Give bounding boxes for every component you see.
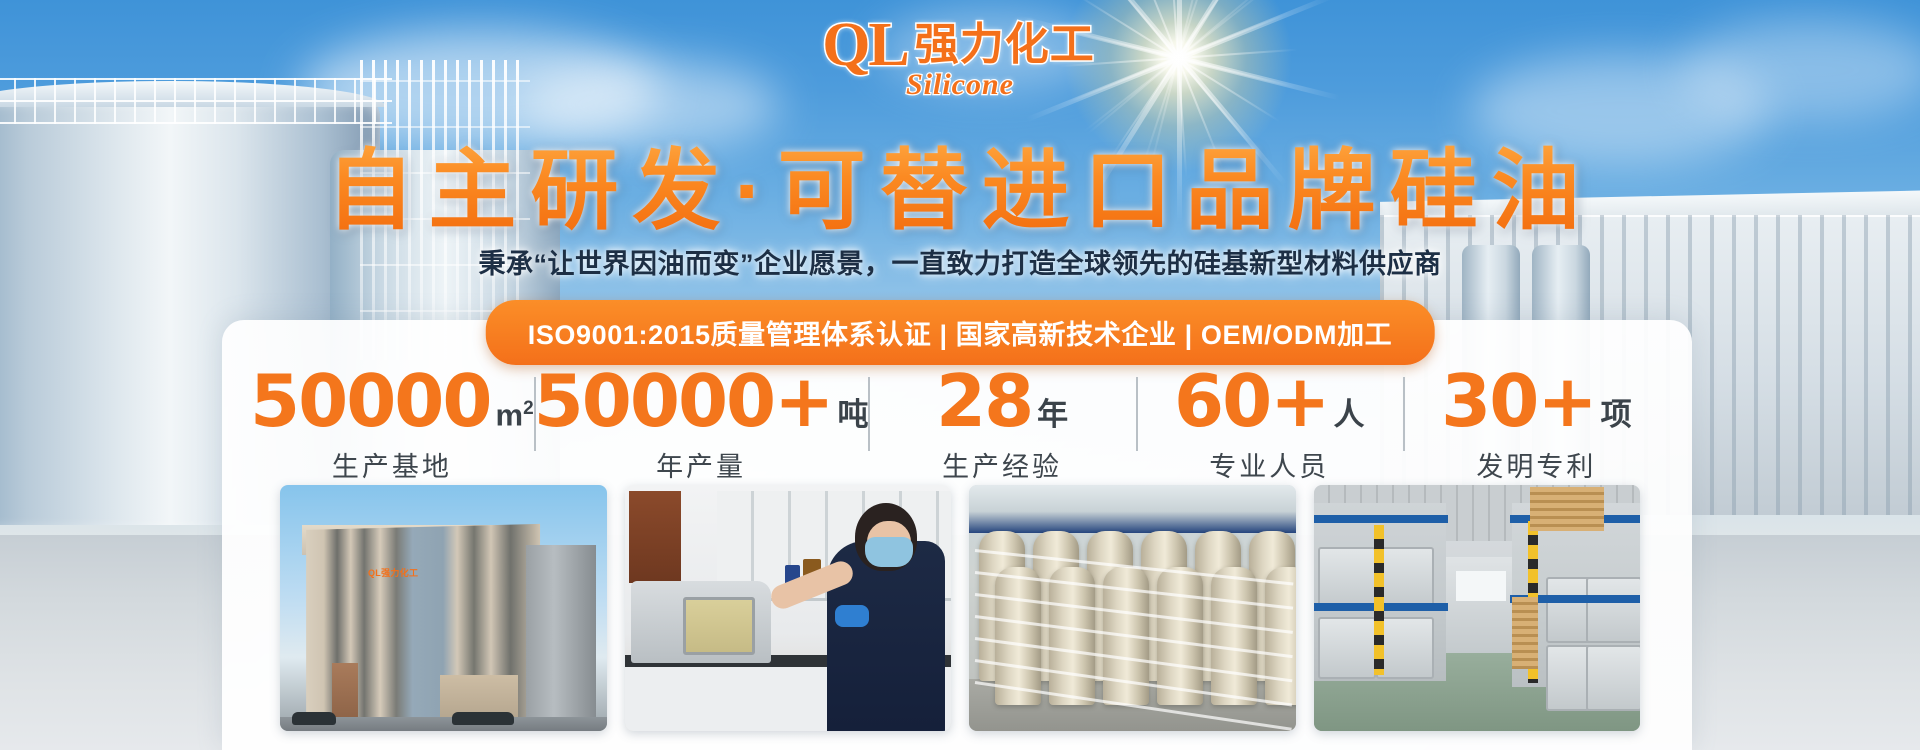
stats-row: 50000m2生产基地50000+吨年产量28年生产经验60+人专业人员30+项… (250, 365, 1670, 484)
stat-number: 30+ (1441, 365, 1596, 437)
railing-post-shape (334, 78, 336, 124)
stat-value-row: 60+人 (1136, 365, 1403, 437)
railing-post-shape (314, 78, 316, 124)
ibc-tote-shape (1376, 617, 1434, 679)
railing-post-shape (34, 78, 36, 124)
page-title: 自主研发·可替进口品牌硅油 (0, 120, 1920, 247)
wood-pallet-shape (1530, 487, 1604, 531)
stat-item-4: 60+人专业人员 (1136, 365, 1403, 484)
stat-value-row: 50000m2 (250, 365, 534, 437)
railing-post-shape (194, 78, 196, 124)
rack-beam-shape (1314, 515, 1448, 523)
building-side-wing-shape (526, 545, 596, 723)
stat-label: 发明专利 (1403, 445, 1670, 484)
company-logo[interactable]: QL 强力化工 Silicone (822, 14, 1098, 100)
railing-post-shape (74, 78, 76, 124)
stat-value-row: 30+项 (1403, 365, 1670, 437)
railing-post-shape (254, 78, 256, 124)
tank-railing-shape (0, 78, 392, 124)
logo-main-row: QL 强力化工 (822, 14, 1098, 76)
lab-door-shape (629, 491, 681, 583)
ibc-tote-shape (1586, 577, 1641, 643)
storage-silo-shape (1211, 567, 1257, 705)
storage-silo-shape (1265, 567, 1296, 705)
stat-item-1: 50000m2生产基地 (250, 365, 534, 484)
building-logo-sign: QL强力化工 (368, 566, 418, 579)
car-icon (292, 712, 336, 725)
ibc-tote-shape (1376, 547, 1434, 609)
ibc-tote-shape (1318, 617, 1376, 679)
certification-badge: ISO9001:2015质量管理体系认证 | 国家高新技术企业 | OEM/OD… (486, 300, 1435, 365)
building-pillar-shape (332, 663, 358, 723)
hero-banner: QL 强力化工 Silicone 自主研发·可替进口品牌硅油 自主研发·可替进口… (0, 0, 1920, 750)
logo-chinese-name: 强力化工 (912, 23, 1098, 67)
railing-post-shape (114, 78, 116, 124)
stat-unit: 人 (1334, 399, 1365, 437)
warehouse-window-shape (1456, 571, 1506, 601)
photo-laboratory[interactable] (625, 485, 952, 731)
face-mask-icon (865, 537, 913, 567)
railing-post-shape (214, 78, 216, 124)
stat-item-5: 30+项发明专利 (1403, 365, 1670, 484)
wood-pallet-shape (1512, 597, 1538, 669)
pipe-crossbar-shape (360, 80, 530, 82)
railing-post-shape (14, 78, 16, 124)
stat-unit: 年 (1037, 399, 1068, 437)
instrument-screen-shape (683, 597, 755, 655)
stat-number: 50000+ (534, 365, 833, 437)
stat-item-2: 50000+吨年产量 (534, 365, 869, 484)
photo-warehouse[interactable] (1314, 485, 1641, 731)
railing-post-shape (134, 78, 136, 124)
photo-office-building[interactable]: QL强力化工 (280, 485, 607, 731)
stat-number: 50000 (250, 365, 491, 437)
stat-label: 年产量 (534, 445, 869, 484)
safety-post-shape (1374, 525, 1384, 675)
stat-unit: 项 (1601, 399, 1632, 437)
photo-production-tanks[interactable] (969, 485, 1296, 731)
glove-icon (835, 605, 869, 627)
ibc-tote-shape (1586, 645, 1641, 711)
stat-value-row: 28年 (868, 365, 1135, 437)
ibc-tote-shape (1318, 547, 1376, 609)
railing-post-shape (274, 78, 276, 124)
stat-item-3: 28年生产经验 (868, 365, 1135, 484)
railing-post-shape (174, 78, 176, 124)
railing-post-shape (54, 78, 56, 124)
stat-label: 生产经验 (868, 445, 1135, 484)
stat-number: 60+ (1174, 365, 1329, 437)
storage-silo-shape (1157, 567, 1203, 705)
railing-post-shape (154, 78, 156, 124)
logo-mark-ql: QL (822, 14, 908, 76)
photo-gallery: QL强力化工 (280, 485, 1640, 731)
stat-unit-superscript: 2 (523, 398, 534, 419)
stat-label: 生产基地 (250, 445, 534, 484)
stat-value-row: 50000+吨 (534, 365, 869, 437)
stat-unit: m2 (496, 399, 534, 437)
stat-number: 28 (936, 365, 1032, 437)
railing-post-shape (354, 78, 356, 124)
storage-silo-shape (1049, 567, 1095, 705)
railing-post-shape (294, 78, 296, 124)
factory-roof-shape (969, 485, 1296, 533)
stat-unit: 吨 (837, 399, 868, 437)
hero-subtitle: 秉承“让世界因油而变”企业愿景，一直致力打造全球领先的硅基新型材料供应商 (0, 242, 1920, 281)
stat-label: 专业人员 (1136, 445, 1403, 484)
railing-post-shape (234, 78, 236, 124)
car-icon (452, 712, 514, 725)
railing-post-shape (94, 78, 96, 124)
